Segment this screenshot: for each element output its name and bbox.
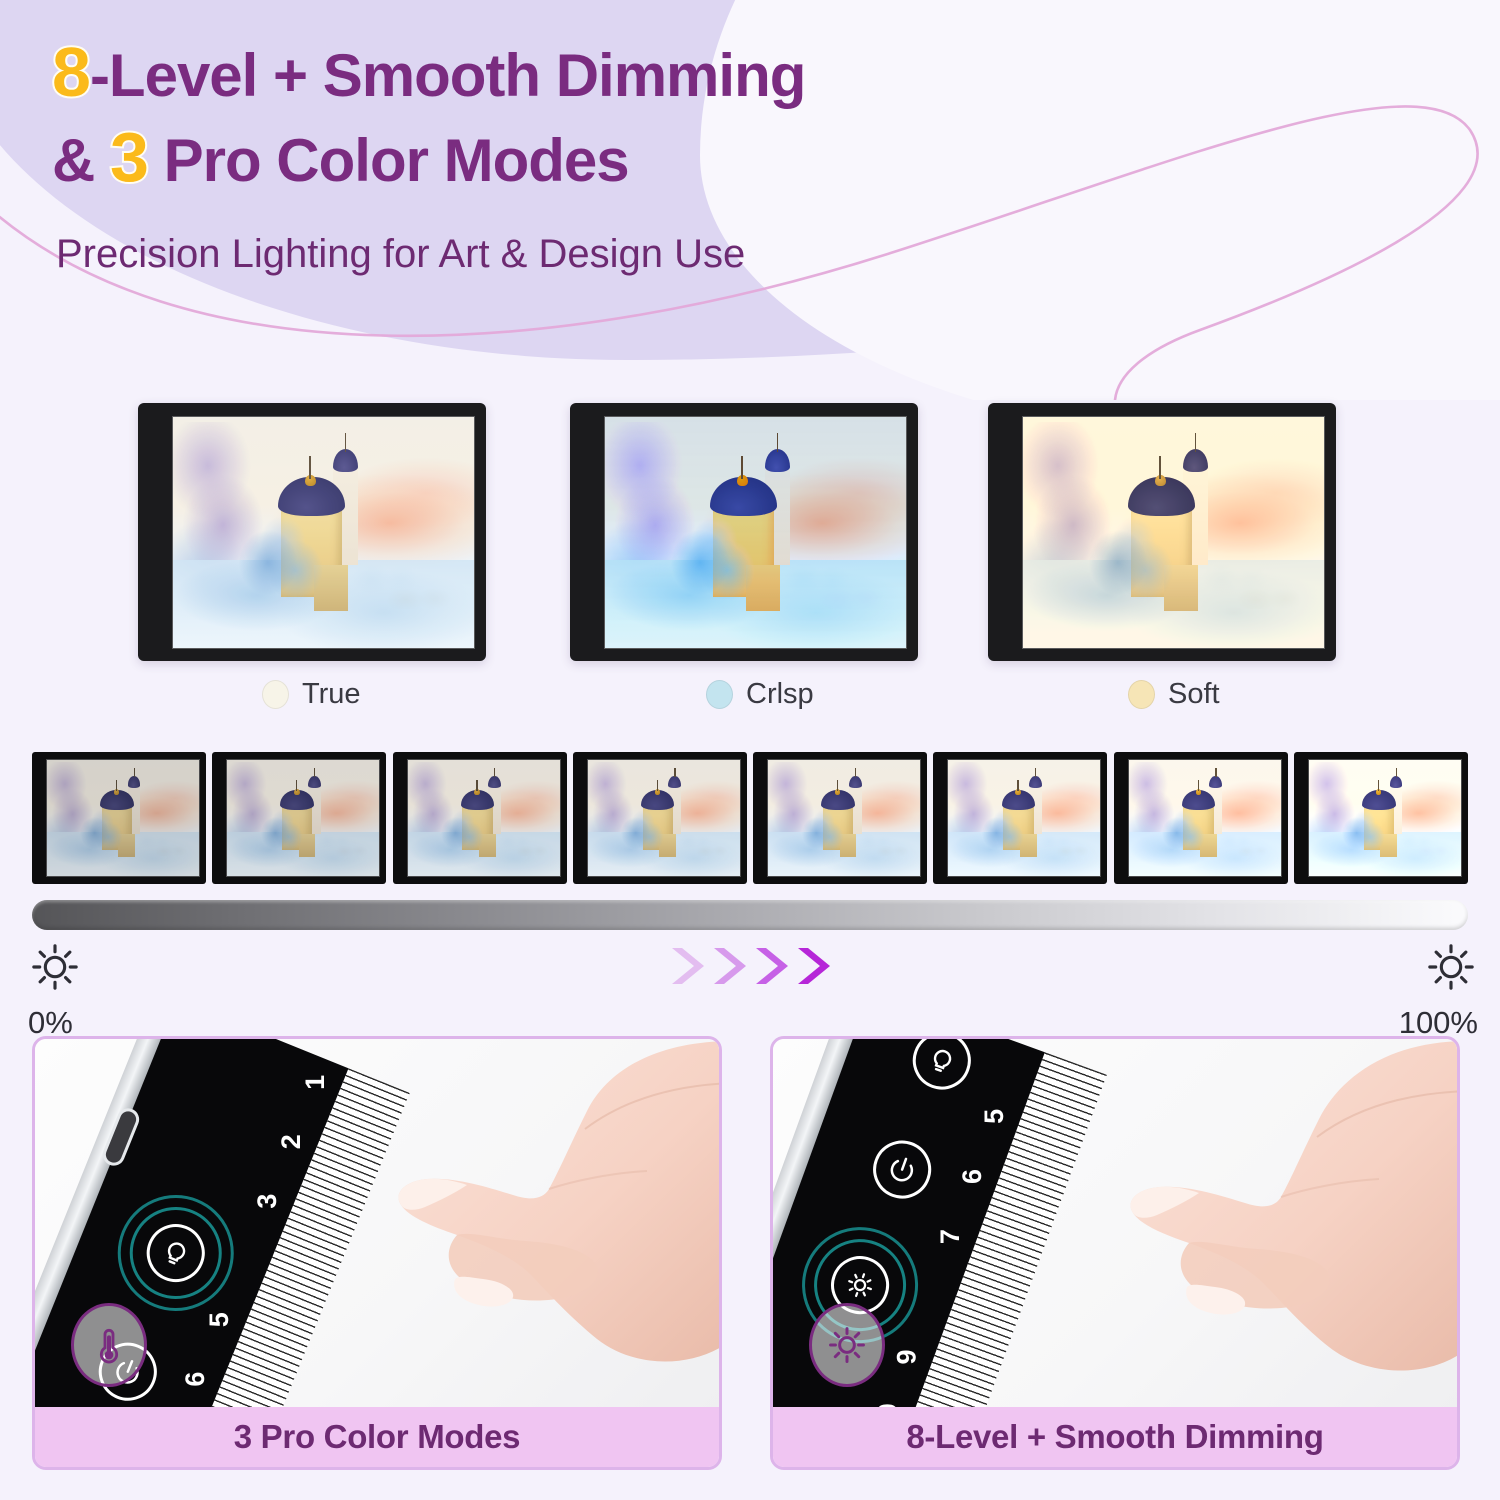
caption-text-left: 3 Pro Color Modes (234, 1418, 520, 1456)
title-line-2-text: Pro Color Modes (148, 127, 629, 194)
dimming-thumbnail-6[interactable] (933, 752, 1107, 884)
bulb-icon[interactable] (905, 1039, 979, 1098)
ruler-number-9: 9 (891, 1349, 922, 1364)
caption-text-right: 8-Level + Smooth Dimming (906, 1418, 1323, 1456)
dimming-thumbnail-3[interactable] (393, 752, 567, 884)
thumbnail-artwork (948, 760, 1100, 876)
light-pad-crlsp (570, 403, 918, 661)
hand-pointing (1069, 1039, 1457, 1413)
thumbnail-screen (226, 759, 380, 877)
caption-bar-left: 3 Pro Color Modes (35, 1407, 719, 1467)
page-title: 8-Level + Smooth Dimming & 3 Pro Color M… (52, 30, 1102, 201)
increase-arrows (668, 944, 834, 988)
title-line-2-prefix: & (52, 127, 110, 194)
dimming-thumbnail-7[interactable] (1114, 752, 1288, 884)
thumbnail-screen (767, 759, 921, 877)
sun-badge (809, 1303, 885, 1387)
thumbnail-screen (1308, 759, 1462, 877)
dimming-thumbnail-2[interactable] (212, 752, 386, 884)
swatch-soft-icon (1128, 680, 1155, 709)
thermometer-badge (71, 1303, 147, 1387)
thumbnail-artwork (1129, 760, 1281, 876)
infographic-page: 8-Level + Smooth Dimming & 3 Pro Color M… (0, 0, 1500, 1500)
title-number-8: 8 (52, 33, 90, 111)
mode-label-true-text: True (302, 678, 361, 711)
color-mode-labels: True Crlsp Soft (0, 678, 1500, 726)
color-mode-showcase (0, 403, 1500, 673)
dimming-level-strip (32, 752, 1468, 884)
sun-icon (826, 1324, 868, 1366)
mode-label-true: True (262, 678, 361, 711)
panel-color-modes: 1 2 3 5 6 7 8 (32, 1036, 722, 1470)
chevron-right-icon-2 (710, 944, 750, 988)
thumbnail-artwork (588, 760, 740, 876)
ruler-number-5: 5 (204, 1312, 235, 1327)
power-icon[interactable] (865, 1132, 939, 1206)
title-line-1-text: -Level + Smooth Dimming (90, 42, 805, 109)
thumbnail-screen (407, 759, 561, 877)
artwork-true (173, 417, 474, 648)
thermometer-icon (89, 1323, 129, 1367)
chevron-right-icon-3 (752, 944, 792, 988)
thumbnail-screen (46, 759, 200, 877)
title-line-1: 8-Level + Smooth Dimming (52, 30, 1102, 115)
photo-color-modes: 1 2 3 5 6 7 8 (35, 1039, 719, 1413)
hand-pointing (335, 1039, 719, 1413)
mode-label-soft: Soft (1128, 678, 1220, 711)
thumbnail-artwork (47, 760, 199, 876)
ruler-number-6: 6 (180, 1372, 211, 1387)
mode-label-soft-text: Soft (1168, 678, 1220, 711)
ruler-number-3: 3 (252, 1194, 283, 1209)
thumbnail-artwork (227, 760, 379, 876)
pad-screen (1022, 416, 1325, 649)
swatch-crlsp-icon (706, 680, 733, 709)
sun-icon (1424, 940, 1478, 994)
page-subtitle: Precision Lighting for Art & Design Use (56, 232, 745, 277)
thumbnail-artwork (768, 760, 920, 876)
sun-icon (28, 940, 82, 994)
feature-panels: 1 2 3 5 6 7 8 (0, 1036, 1500, 1476)
dimming-thumbnail-1[interactable] (32, 752, 206, 884)
caption-bar-right: 8-Level + Smooth Dimming (773, 1407, 1457, 1467)
artwork-soft (1023, 417, 1324, 648)
swatch-true-icon (262, 680, 289, 709)
pad-screen (172, 416, 475, 649)
thumbnail-artwork (408, 760, 560, 876)
title-line-2: & 3 Pro Color Modes (52, 115, 1102, 200)
thumbnail-screen (1128, 759, 1282, 877)
artwork-crlsp (605, 417, 906, 648)
chevron-right-icon-4 (794, 944, 834, 988)
brightness-max: 100% (1399, 940, 1478, 1041)
dimming-thumbnail-5[interactable] (753, 752, 927, 884)
thumbnail-artwork (1309, 760, 1461, 876)
pad-screen (604, 416, 907, 649)
dimming-thumbnail-8[interactable] (1294, 752, 1468, 884)
brightness-min: 0% (28, 940, 82, 1041)
ruler-number-5: 5 (979, 1109, 1010, 1124)
chevron-right-icon-1 (668, 944, 708, 988)
ruler-number-1: 1 (300, 1075, 331, 1090)
ruler-number-7: 7 (935, 1229, 966, 1244)
thumbnail-screen (587, 759, 741, 877)
mode-label-crlsp-text: Crlsp (746, 678, 814, 711)
dimming-thumbnail-4[interactable] (573, 752, 747, 884)
mode-label-crlsp: Crlsp (706, 678, 814, 711)
ruler-number-2: 2 (276, 1134, 307, 1149)
thumbnail-screen (947, 759, 1101, 877)
light-pad-soft (988, 403, 1336, 661)
panel-dimming: 5 6 7 9 10 11 (770, 1036, 1460, 1470)
ruler-number-6: 6 (957, 1169, 988, 1184)
photo-dimming: 5 6 7 9 10 11 (773, 1039, 1457, 1413)
title-number-3: 3 (110, 118, 148, 196)
light-pad-true (138, 403, 486, 661)
brightness-slider[interactable] (32, 900, 1468, 930)
